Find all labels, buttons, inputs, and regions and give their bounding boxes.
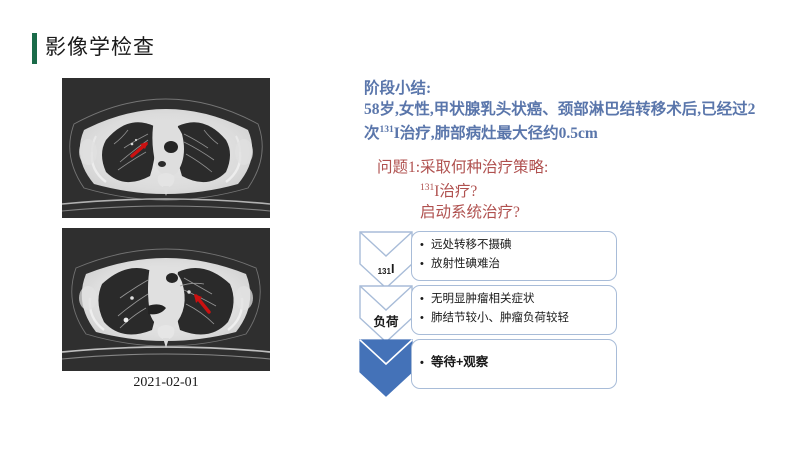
flow-bullet: 无明显肿瘤相关症状: [420, 290, 610, 309]
chevron-down-shape-3: [358, 338, 414, 398]
question-option-radioiodine-label: I治疗?: [434, 183, 477, 200]
chevron-filled-icon-3: [358, 338, 414, 398]
flow-box-tumor-burden: 无明显肿瘤相关症状 肺结节较小、肿瘤负荷较轻: [411, 285, 617, 335]
flow-row-tumor-burden: 负荷 无明显肿瘤相关症状 肺结节较小、肿瘤负荷较轻: [358, 284, 620, 340]
clinical-question-block: 问题1:采取何种治疗策略: 131I治疗? 启动系统治疗?: [377, 157, 777, 223]
question-option-radioiodine: 131I治疗?: [377, 178, 777, 202]
chevron-outline-icon-1: [358, 230, 414, 290]
page-title: 影像学检查: [45, 32, 155, 63]
flow-bullet: 肺结节较小、肿瘤负荷较轻: [420, 309, 610, 328]
flow-row-radioiodine: 131I 远处转移不摄碘 放射性碘难治: [358, 230, 620, 286]
ct-lower-graphic: [62, 228, 270, 371]
flow-bullet: 放射性碘难治: [420, 255, 610, 274]
ct-upper-graphic: [62, 78, 270, 218]
summary-line-2-pre: 次: [364, 125, 380, 142]
chest-ct-axial-upper: [62, 78, 270, 218]
flow-box-conclusion: 等待+观察: [411, 339, 617, 389]
summary-line-2-post: I治疗,肺部病灶最大径约0.5cm: [394, 125, 598, 142]
chevron-down-shape-2: [358, 284, 414, 344]
title-accent-bar: [32, 33, 37, 64]
iodine-131-superscript: 131: [380, 125, 394, 135]
decision-flow: 131I 远处转移不摄碘 放射性碘难治 负荷 无明显肿瘤相关症状 肺结节较小、肿…: [358, 230, 620, 390]
chevron-outline-icon-2: [358, 284, 414, 344]
question-line-1: 问题1:采取何种治疗策略:: [377, 157, 777, 178]
flow-row-conclusion: 等待+观察: [358, 338, 620, 394]
flow-bullet: 等待+观察: [420, 353, 610, 373]
summary-heading: 阶段小结:: [364, 78, 794, 99]
iodine-131-superscript-question: 131: [420, 183, 434, 193]
flow-bullet: 远处转移不摄碘: [420, 236, 610, 255]
scan-date-caption: 2021-02-01: [62, 375, 270, 391]
chest-ct-axial-lower: [62, 228, 270, 371]
stage-summary-block: 阶段小结: 58岁,女性,甲状腺乳头状癌、颈部淋巴结转移术后,已经过2 次131…: [364, 78, 794, 144]
summary-line-2: 次131I治疗,肺部病灶最大径约0.5cm: [364, 120, 794, 144]
flow-box-radioiodine: 远处转移不摄碘 放射性碘难治: [411, 231, 617, 281]
chevron-down-shape-1: [358, 230, 414, 290]
summary-line-1: 58岁,女性,甲状腺乳头状癌、颈部淋巴结转移术后,已经过2: [364, 99, 794, 120]
question-option-systemic: 启动系统治疗?: [377, 202, 777, 223]
